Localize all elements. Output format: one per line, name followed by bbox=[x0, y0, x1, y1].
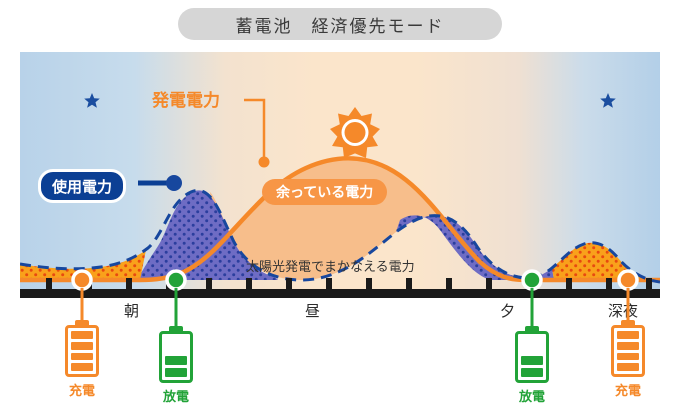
battery-icon-discharge bbox=[515, 326, 549, 383]
pin-marker-charge-early bbox=[73, 271, 91, 289]
battery-group-charge-night-early: 充電 bbox=[42, 288, 122, 399]
battery-action-label: 充電 bbox=[42, 380, 122, 399]
battery-segment bbox=[165, 368, 187, 377]
battery-segment bbox=[617, 353, 639, 361]
battery-group-discharge-evening: 放電 bbox=[492, 288, 572, 405]
time-label-noon: 昼 bbox=[305, 300, 320, 321]
generation-label: 発電電力 bbox=[152, 86, 220, 111]
battery-segment bbox=[521, 368, 543, 377]
page-title: 蓄電池 経済優先モード bbox=[178, 8, 502, 40]
generation-anchor-dot bbox=[259, 157, 270, 168]
battery-body bbox=[159, 331, 193, 383]
battery-segment bbox=[71, 353, 93, 361]
battery-segment bbox=[165, 356, 187, 365]
battery-stem bbox=[531, 288, 534, 326]
battery-segment bbox=[71, 331, 93, 339]
battery-segment bbox=[617, 331, 639, 339]
surplus-label-badge: 余っている電力 bbox=[262, 179, 387, 205]
pin-marker-charge-late bbox=[619, 271, 637, 289]
battery-action-label: 放電 bbox=[136, 386, 216, 405]
pin-marker-discharge-morning bbox=[167, 271, 185, 289]
battery-stem bbox=[175, 288, 178, 326]
surplus-label-text: 余っている電力 bbox=[276, 182, 373, 202]
battery-action-label: 放電 bbox=[492, 386, 572, 405]
battery-body bbox=[65, 325, 99, 377]
battery-stem bbox=[81, 288, 84, 320]
pin-marker-discharge-evening bbox=[523, 271, 541, 289]
battery-segment bbox=[71, 342, 93, 350]
battery-body bbox=[515, 331, 549, 383]
battery-icon-discharge bbox=[159, 326, 193, 383]
usage-anchor-dot bbox=[166, 175, 182, 191]
usage-label-text: 使用電力 bbox=[52, 176, 112, 197]
energy-diagram: 蓄電池 経済優先モード bbox=[0, 0, 680, 400]
page-title-text: 蓄電池 経済優先モード bbox=[236, 12, 445, 37]
battery-segment bbox=[617, 363, 639, 371]
battery-action-label: 充電 bbox=[588, 380, 668, 399]
battery-segment bbox=[521, 356, 543, 365]
battery-stem bbox=[627, 288, 630, 320]
battery-icon-charge bbox=[65, 320, 99, 377]
battery-icon-charge bbox=[611, 320, 645, 377]
battery-body bbox=[611, 325, 645, 377]
battery-group-charge-late-night: 充電 bbox=[588, 288, 668, 399]
battery-segment bbox=[71, 363, 93, 371]
battery-group-discharge-morning: 放電 bbox=[136, 288, 216, 405]
usage-label-badge: 使用電力 bbox=[38, 169, 126, 203]
battery-segment bbox=[617, 342, 639, 350]
